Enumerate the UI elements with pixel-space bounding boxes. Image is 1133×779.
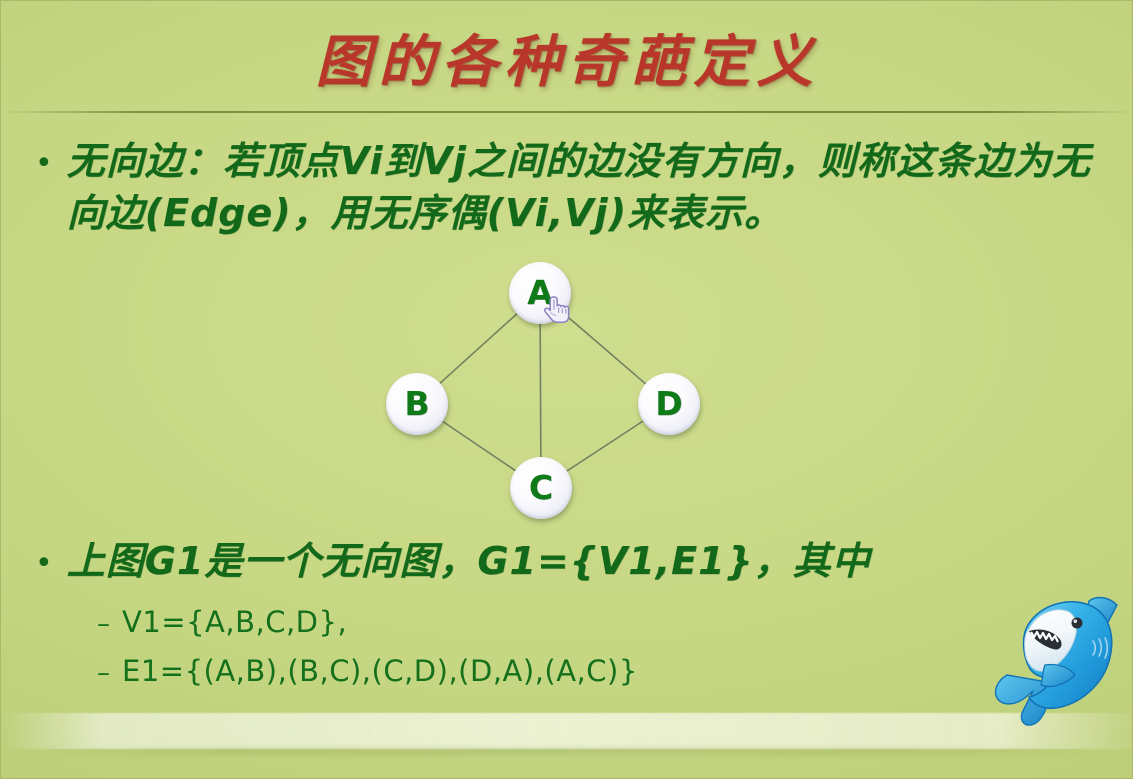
bullet-marker: • xyxy=(35,549,53,579)
shark-mascot-icon xyxy=(993,583,1133,728)
graph-node-c[interactable]: C xyxy=(510,457,572,519)
title-divider xyxy=(7,111,1127,113)
subbullet-text-edge-set: E1={(A,B),(B,C),(C,D),(D,A),(A,C)} xyxy=(122,654,638,689)
subbullet-vertex-set: – V1={A,B,C,D}, xyxy=(97,605,347,640)
subbullet-marker: – xyxy=(97,611,110,637)
bottom-decorative-band xyxy=(1,713,1133,749)
subbullet-marker: – xyxy=(97,660,110,686)
bullet-text-undirected-edge: 无向边：若顶点Vi到Vj之间的边没有方向，则称这条边为无向边(Edge)，用无序… xyxy=(67,135,1107,240)
bullet-marker: • xyxy=(35,149,53,179)
bullet-text-graph-g1: 上图G1是一个无向图，G1={V1,E1}，其中 xyxy=(67,535,871,587)
bullet-undirected-edge: • 无向边：若顶点Vi到Vj之间的边没有方向，则称这条边为无向边(Edge)，用… xyxy=(35,135,1115,240)
graph-node-d-label: D xyxy=(655,387,682,420)
subbullet-edge-set: – E1={(A,B),(B,C),(C,D),(D,A),(A,C)} xyxy=(97,654,638,689)
title-container: 图的各种奇葩定义 xyxy=(1,17,1133,98)
page-title: 图的各种奇葩定义 xyxy=(316,17,820,98)
slide: 图的各种奇葩定义 • 无向边：若顶点Vi到Vj之间的边没有方向，则称这条边为无向… xyxy=(0,0,1133,779)
graph-node-d[interactable]: D xyxy=(638,373,700,435)
graph-node-b[interactable]: B xyxy=(386,373,448,435)
graph-node-c-label: C xyxy=(529,471,553,504)
graph-node-a-label: A xyxy=(527,276,553,309)
graph-diagram-g1: A B C D xyxy=(361,256,731,531)
subbullet-text-vertex-set: V1={A,B,C,D}, xyxy=(122,605,347,640)
graph-node-a[interactable]: A xyxy=(509,262,571,324)
bullet-graph-g1: • 上图G1是一个无向图，G1={V1,E1}，其中 xyxy=(35,535,1035,587)
graph-node-b-label: B xyxy=(404,387,429,420)
